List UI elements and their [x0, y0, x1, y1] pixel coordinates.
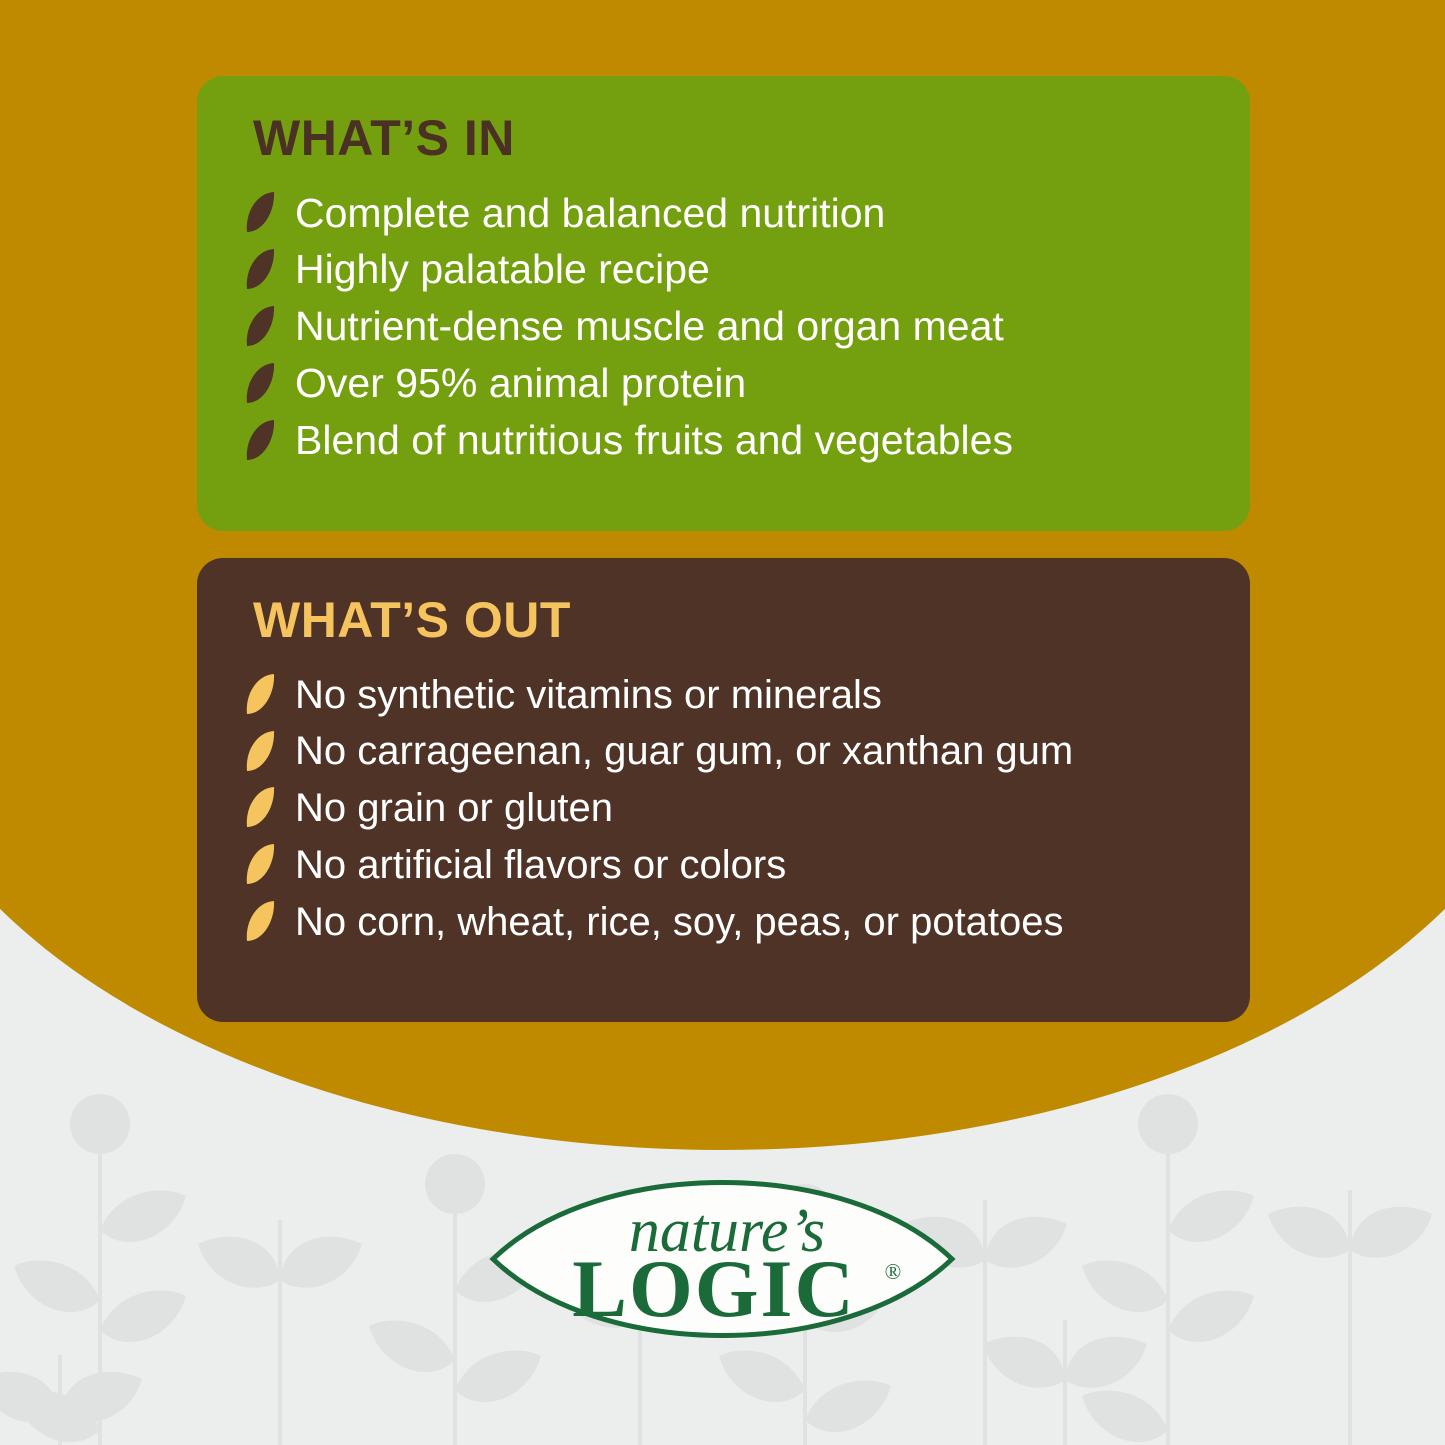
- list-item-label: Highly palatable recipe: [295, 247, 710, 293]
- list-item: No grain or gluten: [243, 786, 1206, 831]
- list-item: Blend of nutritious fruits and vegetable…: [243, 418, 1206, 464]
- list-item-label: No artificial flavors or colors: [295, 843, 786, 888]
- list-item: No artificial flavors or colors: [243, 843, 1206, 888]
- whats-in-title: WHAT’S IN: [253, 112, 1206, 165]
- registered-mark-icon: ®: [885, 1259, 902, 1284]
- whats-out-card: WHAT’S OUT No synthetic vitamins or mine…: [197, 558, 1250, 1022]
- leaf-bullet-icon: [243, 672, 277, 716]
- list-item-label: No synthetic vitamins or minerals: [295, 673, 882, 718]
- list-item: Highly palatable recipe: [243, 247, 1206, 293]
- list-item: Complete and balanced nutrition: [243, 191, 1206, 237]
- list-item-label: Over 95% animal protein: [295, 361, 746, 407]
- promo-graphic: WHAT’S IN Complete and balanced nutritio…: [0, 0, 1445, 1445]
- logo-leaf-mark: nature’s LOGIC ®: [489, 1151, 956, 1367]
- list-item-label: No grain or gluten: [295, 786, 613, 831]
- leaf-bullet-icon: [243, 729, 277, 773]
- list-item: No corn, wheat, rice, soy, peas, or pota…: [243, 900, 1206, 945]
- leaf-bullet-icon: [243, 361, 277, 405]
- list-item-label: Nutrient-dense muscle and organ meat: [295, 304, 1004, 350]
- list-item-label: Complete and balanced nutrition: [295, 191, 885, 237]
- list-item: No carrageenan, guar gum, or xanthan gum: [243, 729, 1206, 774]
- leaf-bullet-icon: [243, 842, 277, 886]
- list-item-label: No corn, wheat, rice, soy, peas, or pota…: [295, 900, 1064, 945]
- whats-out-list: No synthetic vitamins or minerals No car…: [243, 673, 1206, 945]
- leaf-bullet-icon: [243, 190, 277, 234]
- list-item: Nutrient-dense muscle and organ meat: [243, 304, 1206, 350]
- list-item: Over 95% animal protein: [243, 361, 1206, 407]
- whats-in-card: WHAT’S IN Complete and balanced nutritio…: [197, 76, 1250, 531]
- list-item: No synthetic vitamins or minerals: [243, 673, 1206, 718]
- brand-logo: nature’s LOGIC ®: [489, 1151, 956, 1367]
- leaf-bullet-icon: [243, 304, 277, 348]
- leaf-bullet-icon: [243, 899, 277, 943]
- leaf-bullet-icon: [243, 418, 277, 462]
- list-item-label: No carrageenan, guar gum, or xanthan gum: [295, 729, 1073, 774]
- leaf-bullet-icon: [243, 785, 277, 829]
- whats-out-title: WHAT’S OUT: [253, 594, 1206, 647]
- leaf-bullet-icon: [243, 247, 277, 291]
- logo-serif-word: LOGIC: [572, 1243, 855, 1334]
- whats-in-list: Complete and balanced nutrition Highly p…: [243, 191, 1206, 465]
- list-item-label: Blend of nutritious fruits and vegetable…: [295, 418, 1013, 464]
